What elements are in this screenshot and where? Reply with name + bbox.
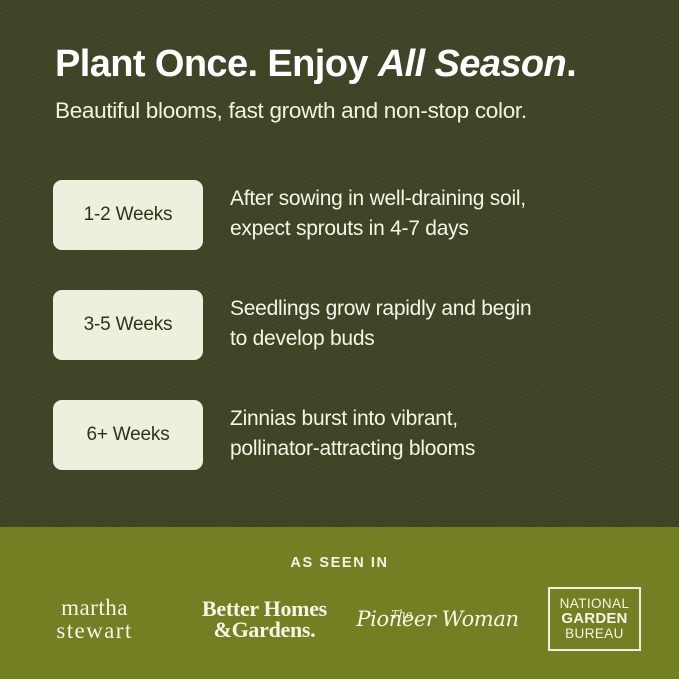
logo-the-pioneer-woman: The Pioneer Woman (350, 609, 520, 629)
logo-ngb-line2: GARDEN (560, 611, 630, 626)
promo-poster: Plant Once. Enjoy All Season. Beautiful … (0, 0, 679, 679)
logo-ngb-line3: BUREAU (560, 626, 630, 641)
logo-better-homes-and-gardens: Better Homes &Gardens. (180, 598, 350, 640)
headline-emphasis: All Season (378, 43, 566, 85)
hero-section: Plant Once. Enjoy All Season. Beautiful … (0, 0, 679, 527)
timeline-description-line: Seedlings grow rapidly and begin (230, 294, 649, 324)
national-garden-bureau-box: NATIONAL GARDEN BUREAU (548, 587, 642, 651)
logo-martha-stewart: martha stewart (10, 596, 180, 642)
headline-lead: Plant Once. Enjoy (55, 43, 378, 85)
timeline-row: 3-5 Weeks Seedlings grow rapidly and beg… (53, 290, 649, 360)
logo-pioneer-woman-main: Pioneer Woman (356, 609, 518, 629)
timeline-description-3: Zinnias burst into vibrant, pollinator-a… (230, 400, 649, 464)
timeline-chip-3-5-weeks: 3-5 Weeks (53, 290, 203, 360)
logo-bhg-line2: &Gardens. (202, 619, 327, 640)
logo-martha-stewart-line1: martha (56, 596, 132, 619)
headline-tail: . (566, 43, 576, 85)
logo-national-garden-bureau: NATIONAL GARDEN BUREAU (520, 587, 670, 651)
logo-martha-stewart-line2: stewart (56, 619, 132, 642)
timeline-chip-6-plus-weeks: 6+ Weeks (53, 400, 203, 470)
press-logo-row: martha stewart Better Homes &Gardens. Th… (0, 587, 679, 651)
timeline-description-line: pollinator-attracting blooms (230, 434, 649, 464)
as-seen-in-label: AS SEEN IN (290, 555, 388, 571)
timeline-description-line: Zinnias burst into vibrant, (230, 404, 649, 434)
as-seen-in-footer: AS SEEN IN martha stewart Better Homes &… (0, 527, 679, 679)
timeline-description-line: After sowing in well-draining soil, (230, 184, 649, 214)
page-title: Plant Once. Enjoy All Season. (55, 43, 576, 86)
timeline-description-line: to develop buds (230, 324, 649, 354)
timeline-description-1: After sowing in well-draining soil, expe… (230, 180, 649, 244)
timeline-chip-1-2-weeks: 1-2 Weeks (53, 180, 203, 250)
growth-timeline: 1-2 Weeks After sowing in well-draining … (53, 180, 649, 470)
timeline-description-line: expect sprouts in 4-7 days (230, 214, 649, 244)
timeline-row: 1-2 Weeks After sowing in well-draining … (53, 180, 649, 250)
timeline-row: 6+ Weeks Zinnias burst into vibrant, pol… (53, 400, 649, 470)
timeline-description-2: Seedlings grow rapidly and begin to deve… (230, 290, 649, 354)
page-subtitle: Beautiful blooms, fast growth and non-st… (55, 98, 527, 124)
logo-bhg-line1: Better Homes (202, 598, 327, 619)
logo-ngb-line1: NATIONAL (560, 596, 630, 611)
logo-pioneer-woman-the: The (391, 605, 412, 625)
